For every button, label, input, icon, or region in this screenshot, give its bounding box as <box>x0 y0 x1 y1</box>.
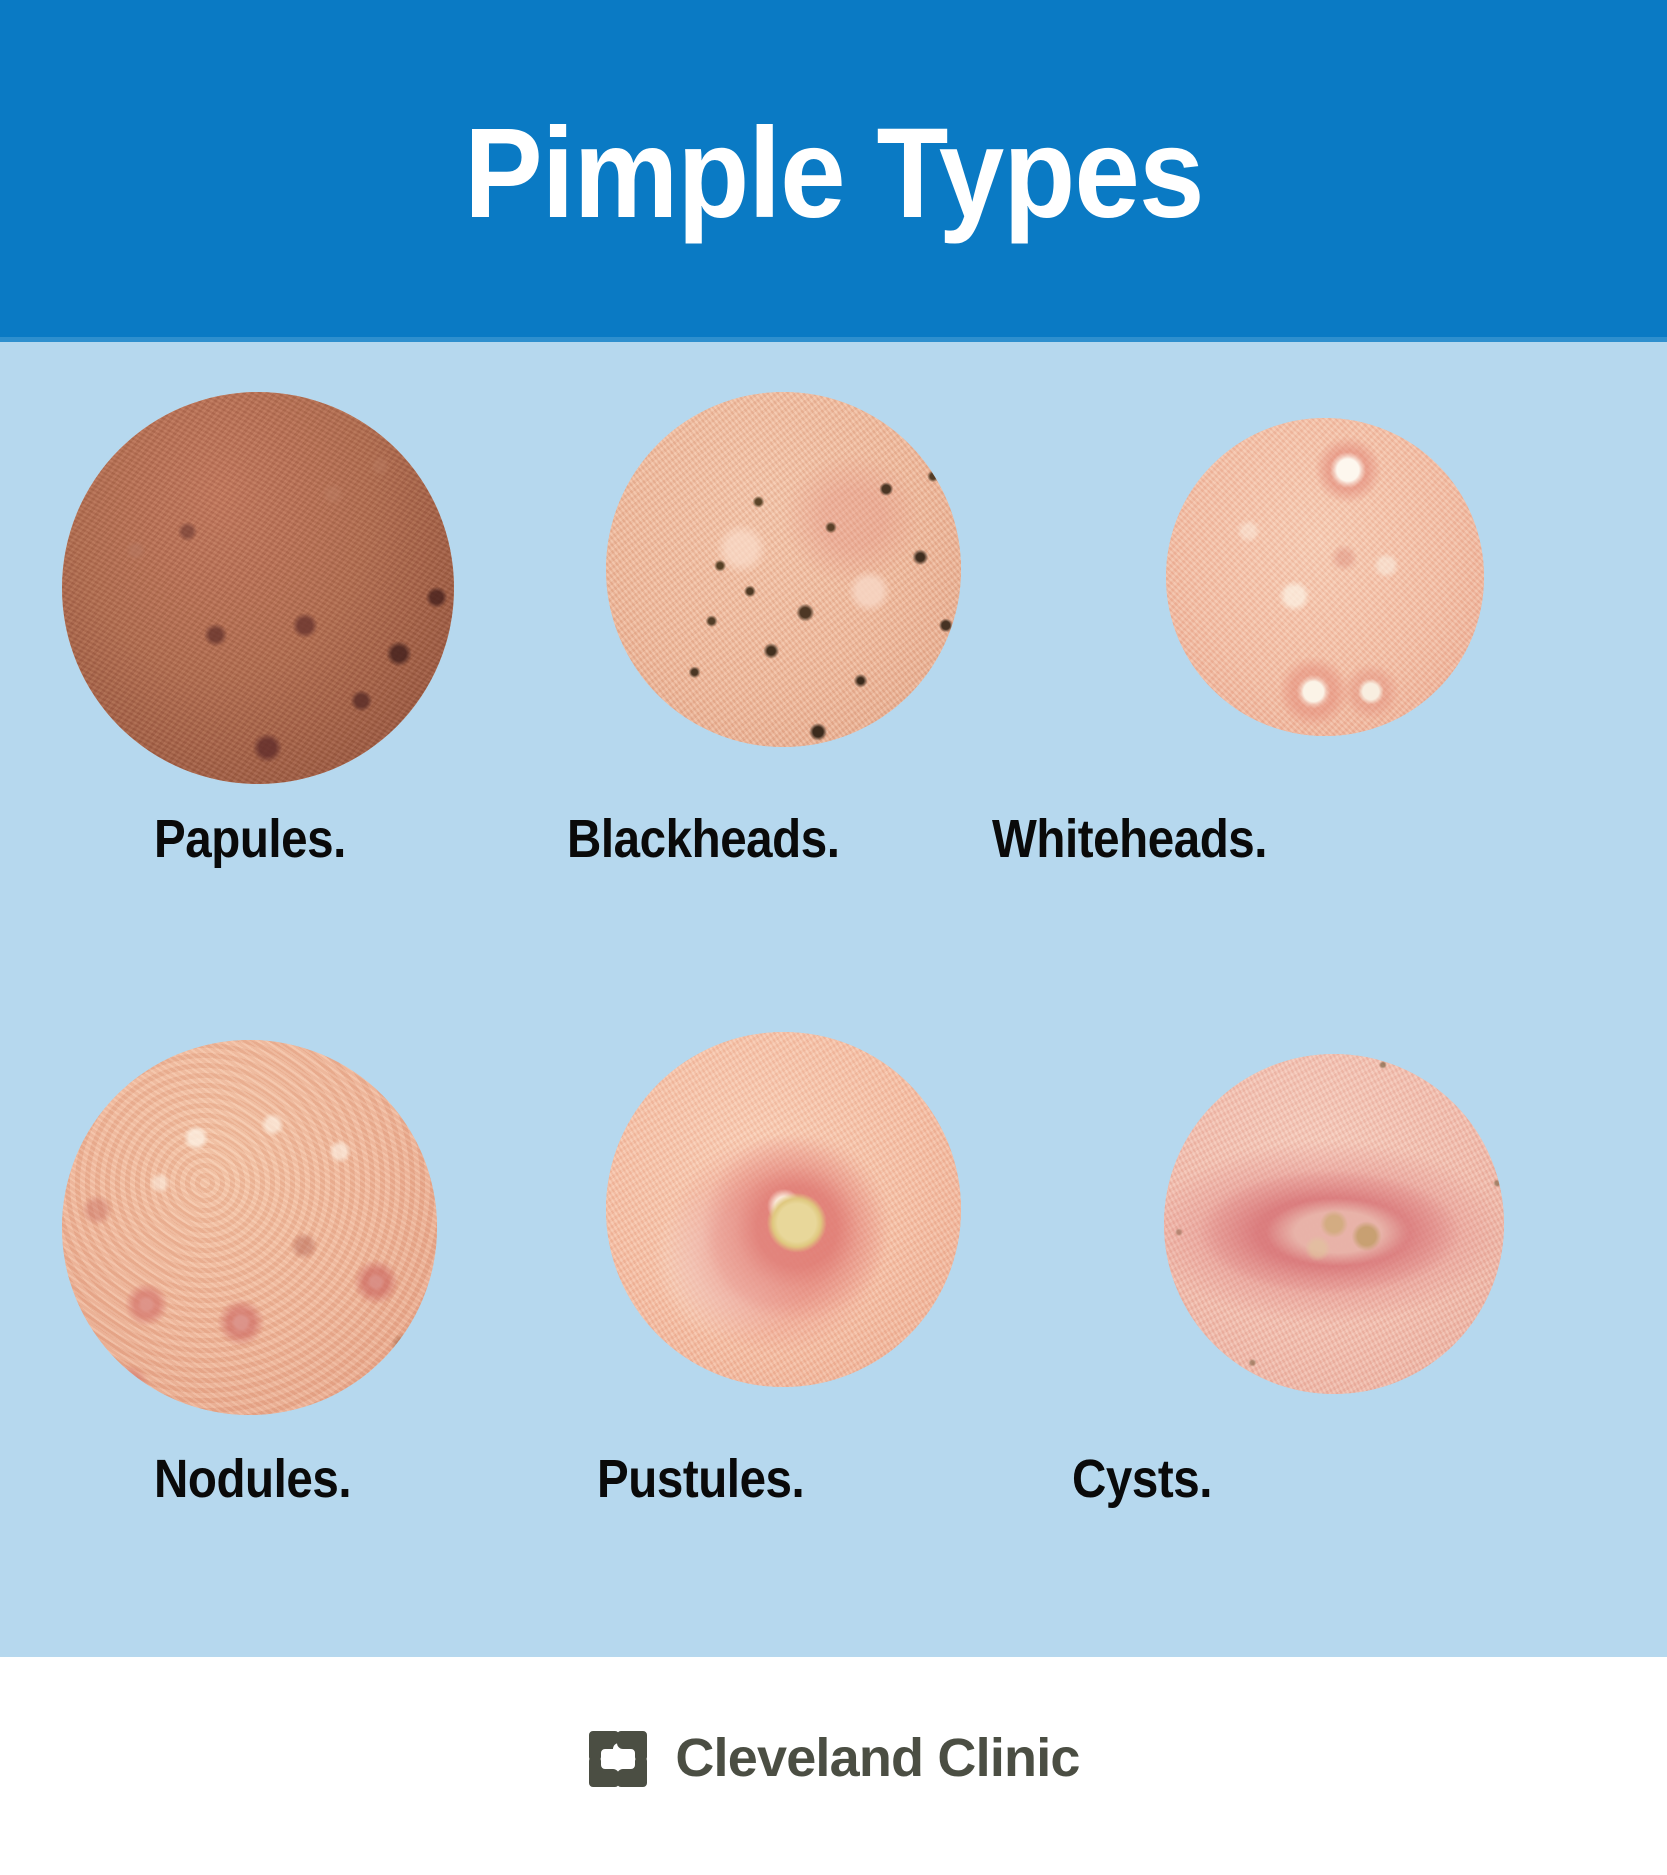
caption-nodules: Nodules. <box>154 1452 524 1506</box>
grid-item-blackheads: Blackheads. <box>597 392 961 747</box>
grid-item-pustules: Pustules. <box>597 1032 961 1387</box>
footer: Cleveland Clinic <box>0 1657 1667 1875</box>
grid-item-papules: Papules. <box>62 392 454 784</box>
nodules-skin-texture <box>62 1040 437 1415</box>
brand-logo: Cleveland Clinic <box>587 1725 1079 1791</box>
header-banner: Pimple Types <box>0 0 1667 342</box>
pustules-skin-photo <box>606 1032 961 1387</box>
pimple-type-grid: Papules. Blackheads. Whiteheads. Nodules… <box>0 342 1667 1657</box>
caption-cysts: Cysts. <box>1072 1452 1442 1506</box>
grid-item-whiteheads: Whiteheads. <box>1142 392 1484 736</box>
page-title: Pimple Types <box>464 110 1203 238</box>
cysts-skin-texture <box>1164 1054 1504 1394</box>
caption-whiteheads: Whiteheads. <box>992 812 1362 866</box>
grid-item-cysts: Cysts. <box>1142 1032 1504 1394</box>
nodules-skin-photo <box>62 1040 437 1415</box>
content-board: Papules. Blackheads. Whiteheads. Nodules… <box>0 342 1667 1657</box>
infographic-page: Pimple Types Papules. Blackheads. <box>0 0 1667 1875</box>
papules-skin-photo <box>62 392 454 784</box>
blackheads-skin-texture <box>606 392 961 747</box>
cysts-skin-photo <box>1164 1054 1504 1394</box>
blackheads-skin-photo <box>606 392 961 747</box>
caption-papules: Papules. <box>154 812 524 866</box>
caption-pustules: Pustules. <box>597 1452 967 1506</box>
brand-name: Cleveland Clinic <box>675 1731 1079 1785</box>
papules-skin-texture <box>62 392 454 784</box>
cleveland-clinic-logo-icon <box>587 1725 653 1791</box>
caption-blackheads: Blackheads. <box>567 812 937 866</box>
grid-item-nodules: Nodules. <box>62 1032 437 1415</box>
whiteheads-skin-photo <box>1166 418 1484 736</box>
whiteheads-skin-texture <box>1166 418 1484 736</box>
pustules-skin-texture <box>606 1032 961 1387</box>
